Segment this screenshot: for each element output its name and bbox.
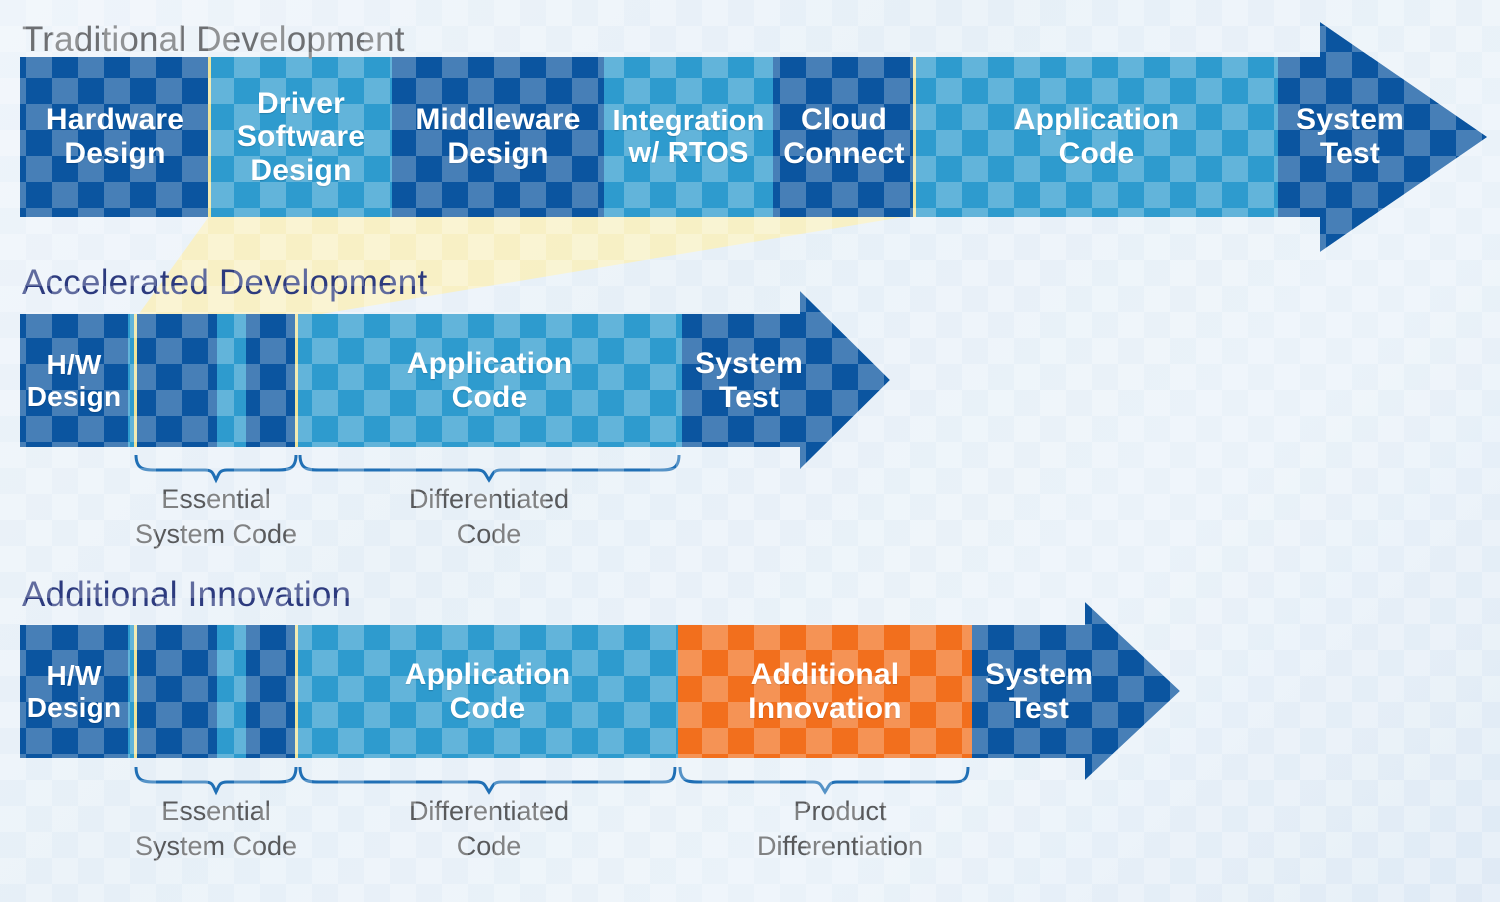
brace-essential-system-code-path — [136, 767, 296, 792]
segment-integration-rtos-fill — [604, 57, 773, 217]
brace-differentiated-code-path — [300, 767, 675, 792]
diagram-canvas — [0, 0, 1500, 902]
segment-hardware-design-fill — [20, 57, 210, 217]
section-title-innovation: Additional Innovation — [22, 575, 351, 615]
divider-yellow-left — [134, 314, 137, 447]
segment-essential-block-a-fill — [136, 314, 217, 447]
segment-system-test-fill — [682, 314, 802, 447]
segment-essential-block-c-fill — [246, 314, 297, 447]
brace-differentiated-code: DifferentiatedCode — [369, 794, 609, 864]
segment-additional-innovation-fill — [678, 625, 972, 758]
innovation-arrow — [20, 602, 1180, 792]
segment-system-test-fill — [972, 625, 1087, 758]
segment-application-code-fill — [297, 314, 682, 447]
section-title-accelerated: Accelerated Development — [22, 263, 427, 303]
segment-application-code-fill — [915, 57, 1278, 217]
section-title-traditional: Traditional Development — [22, 20, 405, 60]
segment-hw-design-fill — [20, 625, 128, 758]
brace-differentiated-code-path — [300, 455, 679, 480]
divider-yellow-left — [208, 57, 211, 217]
accelerated-arrowhead — [800, 291, 890, 469]
segment-essential-block-b-fill — [217, 625, 246, 758]
segment-middleware-design-fill — [392, 57, 604, 217]
segment-driver-software-design-fill — [210, 57, 392, 217]
innovation-arrowhead — [1085, 602, 1180, 780]
segment-essential-block-a-fill — [136, 625, 217, 758]
brace-differentiated-code: DifferentiatedCode — [369, 482, 609, 552]
segment-hw-design-fill — [20, 314, 128, 447]
brace-essential-system-code: EssentialSystem Code — [96, 794, 336, 864]
divider-yellow-left — [134, 625, 137, 758]
brace-product-differentiation-path — [680, 767, 968, 792]
divider-yellow-right — [295, 314, 298, 447]
brace-essential-system-code-path — [136, 455, 296, 480]
divider-yellow-right — [913, 57, 916, 217]
traditional-arrowhead — [1320, 22, 1487, 252]
accelerated-arrow — [20, 291, 890, 480]
brace-product-differentiation: ProductDifferentiation — [705, 794, 975, 864]
divider-yellow-right — [295, 625, 298, 758]
segment-essential-block-c-fill — [246, 625, 297, 758]
segment-cloud-connect-fill — [773, 57, 915, 217]
brace-essential-system-code: EssentialSystem Code — [96, 482, 336, 552]
segment-application-code-fill — [297, 625, 678, 758]
segment-essential-block-b-fill — [217, 314, 246, 447]
